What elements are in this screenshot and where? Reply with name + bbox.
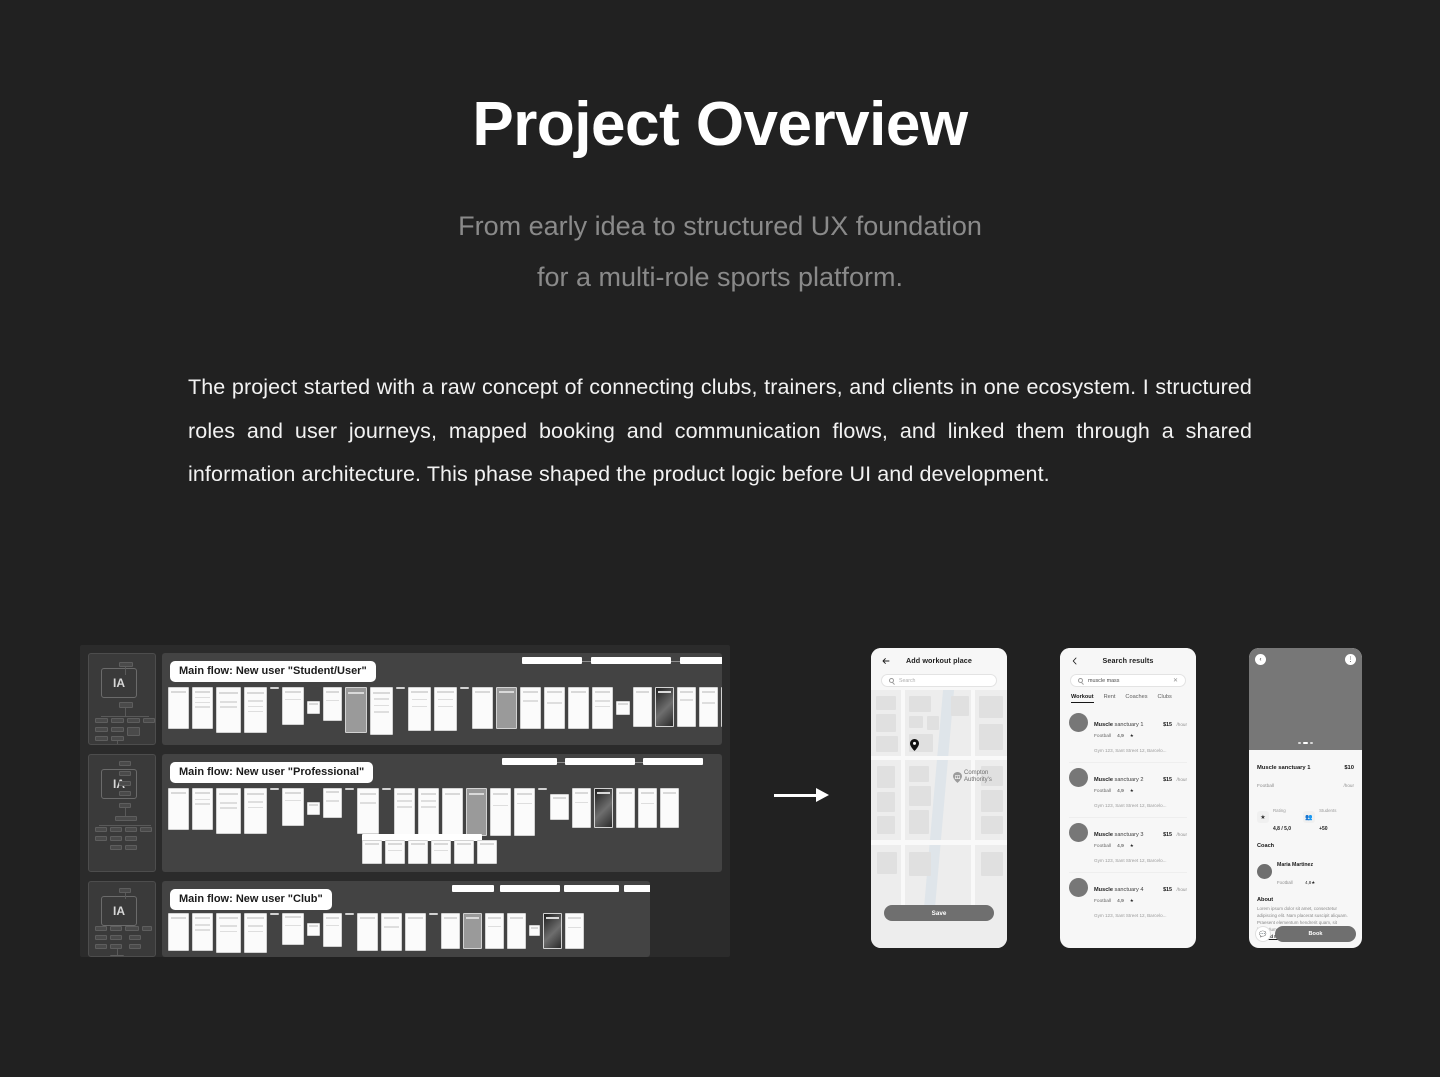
detail-stats: ★ Rating 4,8 / 5,0 👥 Students +50	[1257, 799, 1354, 835]
ia-badge-label-3: IA	[101, 896, 137, 926]
result-name: Muscle sanctuary 3	[1094, 832, 1143, 838]
avatar	[1069, 713, 1088, 732]
result-price-unit: /hour	[1177, 832, 1187, 837]
phone-add-workout-place[interactable]: Add workout place Search	[871, 648, 1007, 948]
list-item[interactable]: Muscle sanctuary 3 Football 4,9★ Gym 123…	[1069, 818, 1187, 873]
flow-board[interactable]: IA	[80, 645, 730, 957]
result-price-unit: /hour	[1177, 777, 1187, 782]
subtitle-line-2: for a multi-role sports platform.	[0, 252, 1440, 303]
tab-workout[interactable]: Workout	[1071, 694, 1094, 703]
search-results-title: Search results	[1060, 656, 1196, 665]
result-address: Gym 123, Sant Street 12, Barcelo...	[1094, 803, 1167, 808]
results-list[interactable]: Muscle sanctuary 1 Football 4,9★ Gym 123…	[1060, 703, 1196, 927]
detail-name: Muscle sanctuary 1	[1257, 765, 1311, 771]
result-price: $15	[1163, 887, 1172, 893]
avatar	[1069, 878, 1088, 897]
flow-row-club[interactable]: IA	[88, 881, 722, 957]
search-query-input[interactable]: muscle mass ✕	[1070, 674, 1186, 687]
ia-tree-diagram	[93, 702, 152, 740]
detail-price: $10	[1344, 765, 1354, 771]
bank-poi-icon	[953, 770, 962, 781]
result-name: Muscle sanctuary 4	[1094, 887, 1143, 893]
result-sport: Football	[1094, 734, 1111, 739]
stat-rating: ★ Rating 4,8 / 5,0	[1257, 799, 1291, 835]
flow-label-student: Main flow: New user "Student/User"	[170, 661, 376, 682]
wireframe-strip-student	[168, 687, 718, 735]
list-item[interactable]: Muscle sanctuary 4 Football 4,9★ Gym 123…	[1069, 873, 1187, 927]
save-button[interactable]: Save	[884, 905, 994, 921]
result-address: Gym 123, Sant Street 12, Barcelo...	[1094, 748, 1167, 753]
carousel-dots[interactable]	[1249, 742, 1362, 744]
result-sport: Football	[1094, 844, 1111, 849]
star-icon: ★	[1257, 811, 1269, 823]
wireframe-strip-professional	[168, 788, 718, 836]
result-price-unit: /hour	[1177, 722, 1187, 727]
ia-tree-diagram-3	[93, 930, 152, 952]
body-paragraph: The project started with a raw concept o…	[188, 366, 1252, 498]
stat-students-value: +50	[1319, 826, 1327, 832]
chat-icon[interactable]: 💬	[1255, 926, 1271, 942]
avatar	[1069, 768, 1088, 787]
ia-tree-diagram-2	[93, 803, 152, 867]
result-rating: 4,9	[1117, 734, 1124, 739]
search-icon	[889, 678, 894, 683]
flow-row-professional[interactable]: IA	[88, 754, 722, 872]
more-icon[interactable]: ⋮	[1345, 654, 1356, 665]
list-item[interactable]: Muscle sanctuary 2 Football 4,9★ Gym 123…	[1069, 763, 1187, 818]
map-canvas[interactable]: Compton Authority's Save	[871, 690, 1007, 948]
result-sport: Football	[1094, 789, 1111, 794]
search-placeholder: Search	[899, 678, 915, 684]
coach-row[interactable]: Maria Martinez Football 4,8★	[1257, 853, 1354, 889]
stat-students-label: Students	[1319, 808, 1336, 813]
coach-heading: Coach	[1257, 843, 1354, 849]
about-heading: About	[1257, 897, 1354, 903]
page-title: Project Overview	[0, 0, 1440, 157]
tab-coaches[interactable]: Coaches	[1125, 694, 1147, 703]
search-input[interactable]: Search	[881, 674, 997, 687]
slide-root: Project Overview From early idea to stru…	[0, 0, 1440, 1077]
flow-panel-club[interactable]: Main flow: New user "Club"	[162, 881, 650, 957]
map-pin-icon[interactable]	[910, 738, 919, 750]
map-poi-label: Compton Authority's	[953, 770, 992, 784]
list-item[interactable]: Muscle sanctuary 1 Football 4,9★ Gym 123…	[1069, 708, 1187, 763]
booking-action-bar[interactable]: 💬 Book	[1255, 926, 1356, 942]
subtitle-line-1: From early idea to structured UX foundat…	[458, 211, 982, 241]
wireframe-strip-club	[168, 913, 646, 953]
tab-rent[interactable]: Rent	[1104, 694, 1116, 703]
phone-place-detail[interactable]: ‹ ⋮ Muscle sanctuary 1 Football $10 /hou…	[1249, 648, 1362, 948]
add-place-title: Add workout place	[871, 656, 1007, 665]
result-name: Muscle sanctuary 1	[1094, 722, 1143, 728]
chevron-left-icon[interactable]	[1071, 657, 1079, 665]
result-address: Gym 123, Sant Street 12, Barcelo...	[1094, 913, 1167, 918]
flow-panel-student[interactable]: Main flow: New user "Student/User"	[162, 653, 722, 745]
ia-card-professional[interactable]: IA	[88, 754, 156, 872]
avatar	[1069, 823, 1088, 842]
poi-text: Compton Authority's	[964, 770, 992, 784]
flow-label-club: Main flow: New user "Club"	[170, 889, 332, 910]
result-rating: 4,9	[1117, 899, 1124, 904]
result-price: $15	[1163, 832, 1172, 838]
ia-card-club[interactable]: IA	[88, 881, 156, 957]
result-filter-tabs[interactable]: Workout Rent Coaches Clubs	[1060, 687, 1196, 703]
stat-rating-label: Rating	[1273, 808, 1286, 813]
artifact-gallery: IA	[0, 645, 1440, 965]
result-price-unit: /hour	[1177, 887, 1187, 892]
tab-clubs[interactable]: Clubs	[1158, 694, 1172, 703]
users-icon: 👥	[1303, 811, 1315, 823]
coach-name: Maria Martinez	[1277, 862, 1313, 868]
stat-students: 👥 Students +50	[1303, 799, 1336, 835]
detail-title-row: Muscle sanctuary 1 Football $10 /hour	[1257, 756, 1354, 792]
detail-price-unit: /hour	[1344, 783, 1354, 788]
chevron-left-icon[interactable]: ‹	[1255, 654, 1266, 665]
close-icon[interactable]: ✕	[1173, 678, 1178, 684]
flow-label-professional: Main flow: New user "Professional"	[170, 762, 373, 783]
result-rating: 4,9	[1117, 789, 1124, 794]
search-results-header: Search results	[1060, 648, 1196, 672]
result-price: $15	[1163, 777, 1172, 783]
result-address: Gym 123, Sant Street 12, Barcelo...	[1094, 858, 1167, 863]
add-place-header: Add workout place	[871, 648, 1007, 672]
flow-panel-professional[interactable]: Main flow: New user "Professional"	[162, 754, 722, 872]
arrow-right-icon	[770, 780, 840, 810]
coach-sport: Football	[1277, 880, 1293, 885]
search-query-value: muscle mass	[1088, 678, 1119, 684]
result-sport: Football	[1094, 899, 1111, 904]
book-button[interactable]: Book	[1275, 926, 1356, 942]
arrow-left-icon[interactable]	[882, 657, 890, 665]
search-icon	[1078, 678, 1083, 683]
detail-sport: Football	[1257, 784, 1274, 789]
hero-image: ‹ ⋮	[1249, 648, 1362, 750]
detail-sheet: Muscle sanctuary 1 Football $10 /hour ★ …	[1249, 750, 1362, 948]
avatar	[1257, 864, 1272, 879]
phone-search-results[interactable]: Search results muscle mass ✕ Workout Ren…	[1060, 648, 1196, 948]
stat-rating-value: 4,8 / 5,0	[1273, 826, 1291, 832]
page-subtitle: From early idea to structured UX foundat…	[0, 201, 1440, 304]
wireframe-strip-professional-extra	[362, 840, 497, 864]
result-price: $15	[1163, 722, 1172, 728]
result-name: Muscle sanctuary 2	[1094, 777, 1143, 783]
result-rating: 4,9	[1117, 844, 1124, 849]
ia-badge-label: IA	[101, 668, 137, 698]
flow-row-student[interactable]: IA	[88, 653, 722, 745]
ia-card-student[interactable]: IA	[88, 653, 156, 745]
